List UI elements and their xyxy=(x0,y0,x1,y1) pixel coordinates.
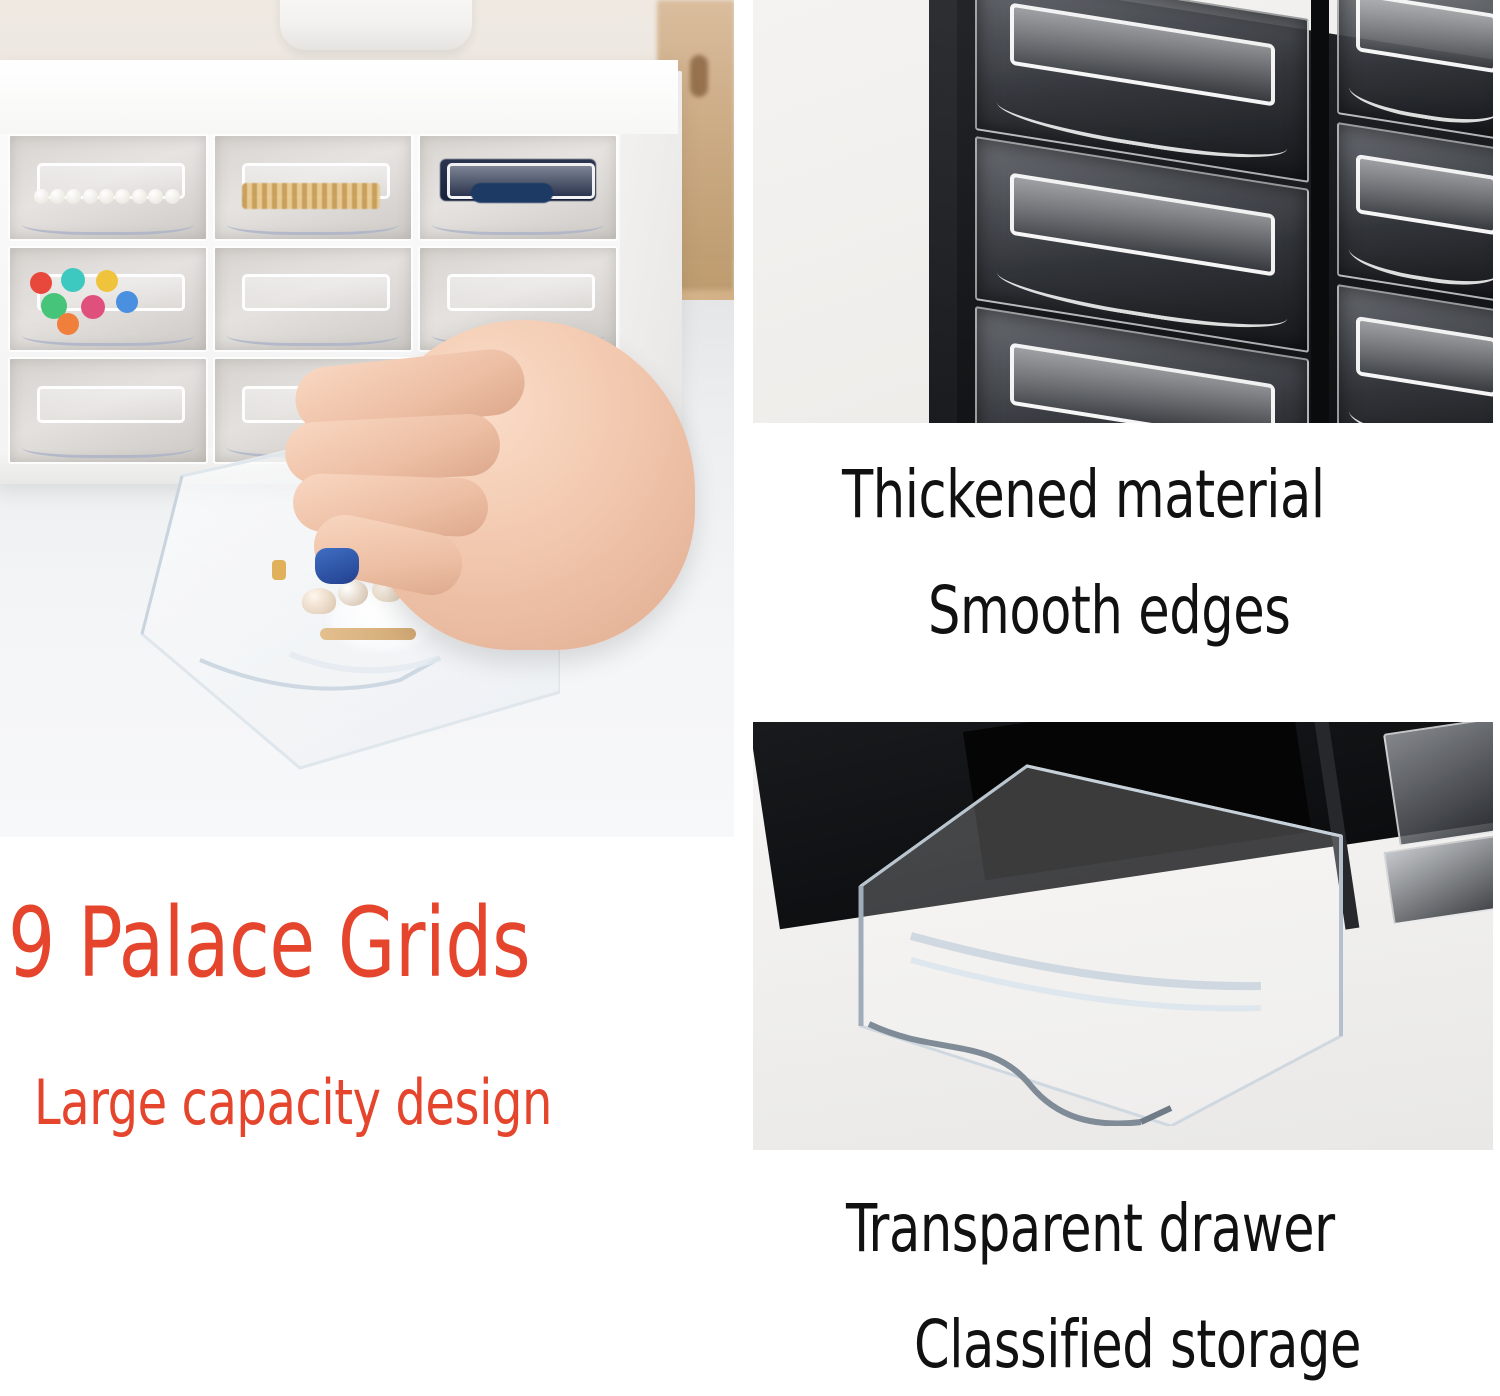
drawer-handle xyxy=(1010,342,1275,423)
drawer-cell xyxy=(418,134,618,241)
pearl-necklace xyxy=(34,189,183,205)
photo-clear-drawer-removed xyxy=(753,722,1493,1150)
colored-bead xyxy=(116,291,138,313)
drawer-cell xyxy=(213,134,413,241)
drawer-scoop xyxy=(22,209,194,235)
drawer-scoop xyxy=(22,321,194,347)
black-left-frame xyxy=(929,0,957,423)
drawer-handle xyxy=(1356,0,1493,73)
drawer-handle xyxy=(1356,154,1493,235)
gold-chain xyxy=(242,183,379,209)
drawer-cell xyxy=(8,134,208,241)
cabinet-top-panel xyxy=(0,60,678,134)
column-divider xyxy=(1311,0,1329,423)
clear-drawer xyxy=(1337,122,1493,304)
colored-bead xyxy=(81,295,105,319)
drawer-scoop xyxy=(227,209,399,235)
hand xyxy=(255,262,725,702)
drawer-scoop xyxy=(432,209,604,235)
wood-knob-blur xyxy=(690,55,708,97)
feature-transparent-drawer: Transparent drawer xyxy=(846,1196,1335,1262)
drawer-cell xyxy=(8,246,208,353)
colored-bead xyxy=(30,272,52,294)
feature-smooth-edges: Smooth edges xyxy=(928,578,1290,644)
clear-drawer xyxy=(1337,284,1493,423)
feature-thickened-material: Thickened material xyxy=(842,462,1325,528)
colored-bead xyxy=(61,268,85,292)
clear-drawer xyxy=(1383,722,1493,847)
subtitle-large-capacity-design: Large capacity design xyxy=(34,1072,552,1134)
blue-accessory xyxy=(471,183,553,203)
feature-classified-storage: Classified storage xyxy=(914,1312,1361,1378)
headline-9-palace-grids: 9 Palace Grids xyxy=(8,895,530,991)
photo-black-unit-closeup xyxy=(753,0,1493,423)
blue-painted-nail xyxy=(315,548,359,584)
removed-clear-drawer xyxy=(841,736,1371,1126)
white-cup xyxy=(280,0,472,50)
drawer-handle xyxy=(1356,316,1493,397)
photo-white-organizer xyxy=(0,0,734,837)
